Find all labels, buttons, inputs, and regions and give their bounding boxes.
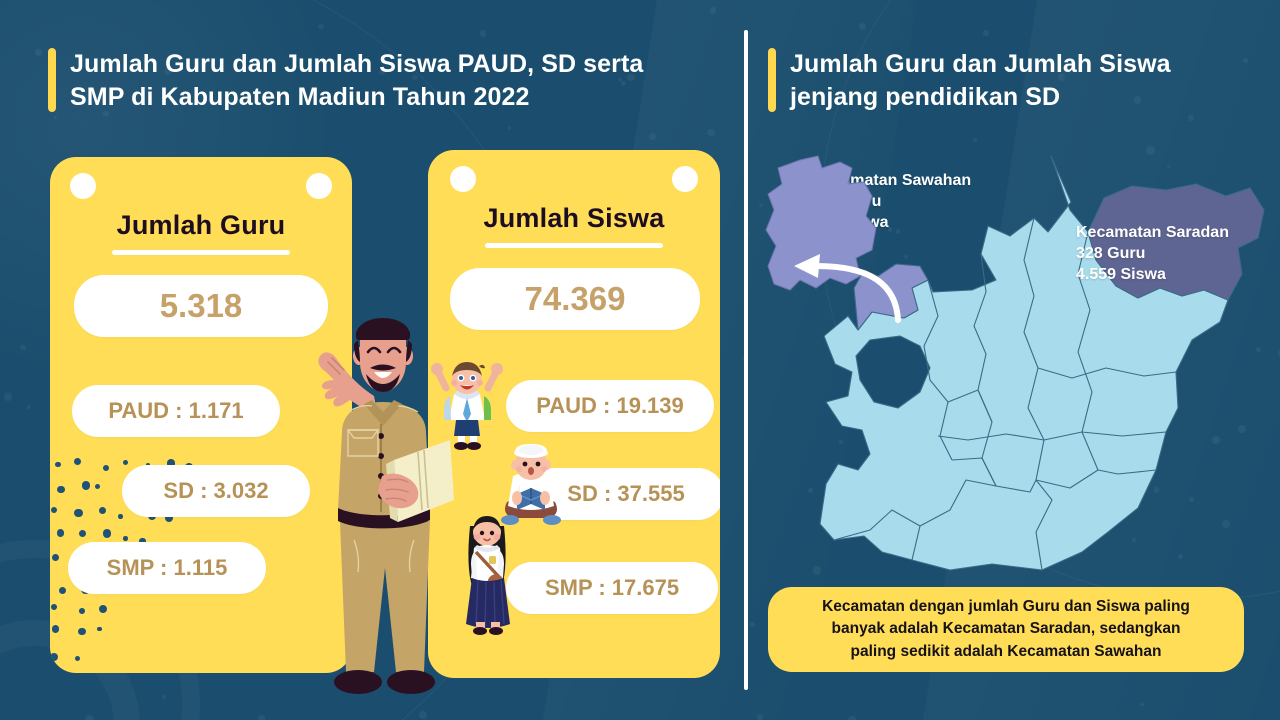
stat-row-siswa-paud: PAUD : 19.139: [506, 380, 714, 432]
card-heading-rule: [485, 243, 663, 248]
card-heading-guru: Jumlah Guru: [50, 210, 352, 241]
punch-hole-left: [70, 173, 96, 199]
left-panel-title: Jumlah Guru dan Jumlah Siswa PAUD, SD se…: [70, 48, 643, 114]
card-punch-holes: [50, 173, 352, 201]
stat-row-guru-smp: SMP : 1.115: [68, 542, 266, 594]
annotation-region-name-saradan: Kecamatan Saradan: [1076, 222, 1229, 243]
student-illustration-smp: [456, 512, 518, 636]
right-panel-header: Jumlah Guru dan Jumlah Siswa jenjang pen…: [768, 48, 1238, 114]
card-heading-siswa: Jumlah Siswa: [428, 203, 720, 234]
left-title-accent-bar: [48, 48, 56, 112]
stat-row-guru-paud: PAUD : 1.171: [72, 385, 280, 437]
map-pointer-arrow: [778, 240, 908, 325]
card-punch-holes: [428, 166, 720, 194]
card-heading-rule: [112, 250, 290, 255]
student-illustration-paud: [432, 358, 502, 450]
stat-row-siswa-smp: SMP : 17.675: [506, 562, 718, 614]
annotation-teachers-saradan: 328 Guru: [1076, 243, 1229, 264]
right-panel-title: Jumlah Guru dan Jumlah Siswa jenjang pen…: [790, 48, 1171, 114]
left-panel-header: Jumlah Guru dan Jumlah Siswa PAUD, SD se…: [48, 48, 708, 114]
punch-hole-left: [450, 166, 476, 192]
map-summary-caption: Kecamatan dengan jumlah Guru dan Siswa p…: [768, 587, 1244, 672]
annotation-students-saradan: 4.559 Siswa: [1076, 264, 1229, 285]
map-annotation-saradan: Kecamatan Saradan 328 Guru 4.559 Siswa: [1076, 222, 1229, 285]
punch-hole-right: [672, 166, 698, 192]
panel-divider: [744, 30, 748, 690]
punch-hole-right: [306, 173, 332, 199]
right-title-accent-bar: [768, 48, 776, 112]
